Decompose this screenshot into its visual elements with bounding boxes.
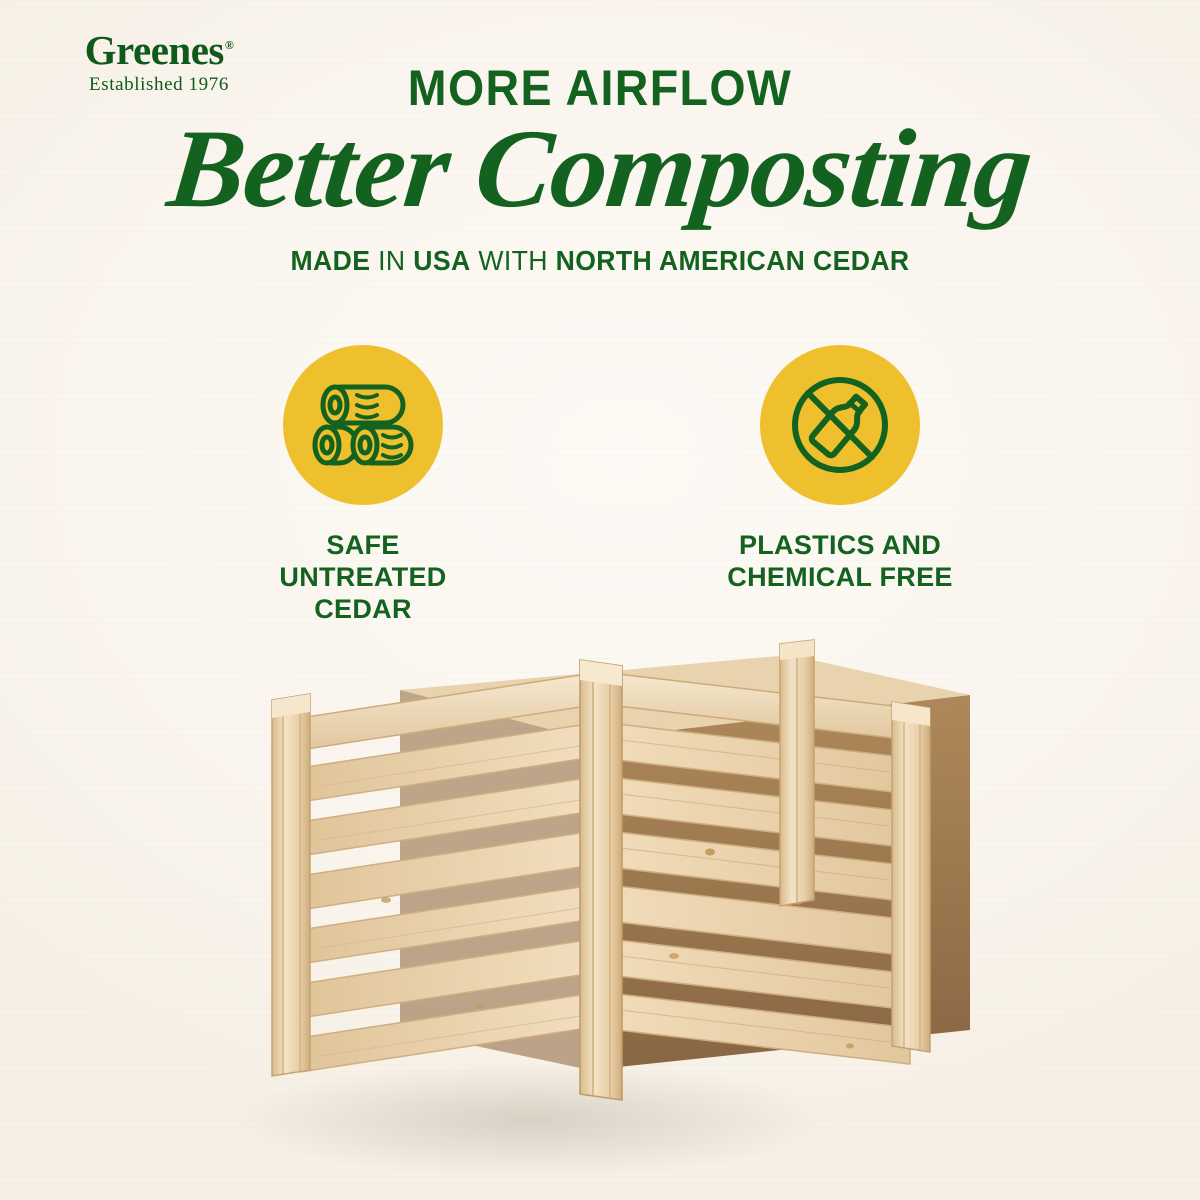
- subtitle-word-cedar: NORTH AMERICAN CEDAR: [556, 245, 910, 276]
- bin-corner-post-center: [580, 660, 622, 1100]
- no-plastic-bottle-icon: [784, 369, 896, 481]
- feature-plastics-chemical-free: PLASTICS AND CHEMICAL FREE: [690, 345, 990, 594]
- subtitle-word-with: WITH: [478, 245, 547, 276]
- bin-corner-post-left: [272, 694, 310, 1076]
- bin-corner-post-right: [892, 702, 930, 1052]
- headline-line-2-script: Better Composting: [0, 113, 1200, 225]
- feature-label-line: UNTREATED: [213, 562, 513, 594]
- feature-label: PLASTICS AND CHEMICAL FREE: [690, 530, 990, 594]
- feature-icon-circle: [283, 345, 443, 505]
- subtitle-word-in: IN: [378, 245, 405, 276]
- feature-safe-untreated-cedar: SAFE UNTREATED CEDAR: [213, 345, 513, 626]
- feature-label-line: PLASTICS AND: [690, 530, 990, 562]
- stacked-logs-icon: [309, 379, 417, 471]
- feature-label-line: CHEMICAL FREE: [690, 562, 990, 594]
- bin-corner-post-rear: [780, 640, 814, 906]
- subtitle-word-made: MADE: [290, 245, 370, 276]
- product-image: [150, 600, 1050, 1200]
- feature-label-line: SAFE: [213, 530, 513, 562]
- headline-block: MORE AIRFLOW Better Composting MADE IN U…: [0, 62, 1200, 277]
- feature-icon-circle: [760, 345, 920, 505]
- product-shadow: [230, 1062, 830, 1178]
- registered-mark-icon: ®: [225, 38, 233, 52]
- cedar-compost-bin-illustration: [150, 600, 1050, 1200]
- headline-subtitle: MADE IN USA WITH NORTH AMERICAN CEDAR: [30, 245, 1170, 277]
- subtitle-word-usa: USA: [413, 245, 470, 276]
